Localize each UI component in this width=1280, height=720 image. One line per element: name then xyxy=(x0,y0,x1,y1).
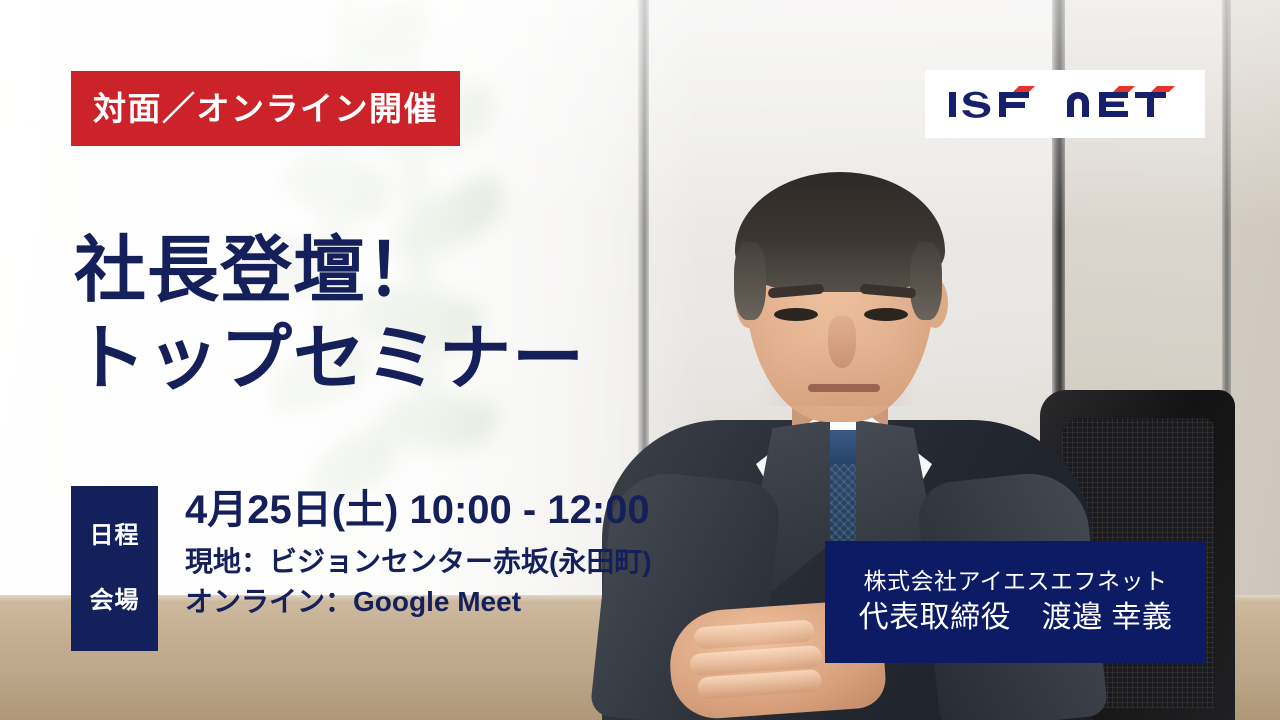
eye-right xyxy=(864,308,908,321)
info-tag-venue: 会場 xyxy=(90,589,140,613)
info-tag-schedule: 日程 xyxy=(90,524,140,548)
seminar-banner: 対面／オンライン開催 社長登壇！ トップセミナー 日程 会場 4月25日(土) … xyxy=(0,0,1280,720)
mouth xyxy=(808,384,880,392)
hair-side-left xyxy=(734,242,766,320)
event-date: 4月25日(土) 10:00 - 12:00 xyxy=(185,488,695,532)
nose xyxy=(828,316,856,368)
eye-left xyxy=(774,308,818,321)
title-line-2: トップセミナー xyxy=(74,316,674,404)
isf-net-logo xyxy=(925,70,1205,138)
speaker-company: 株式会社アイエスエフネット xyxy=(863,567,1167,596)
isf-net-logo-icon xyxy=(947,84,1183,124)
speaker-title-and-name: 代表取締役 渡邉 幸義 xyxy=(859,598,1173,637)
hair-side-right xyxy=(910,242,942,320)
info-tag-box: 日程 会場 xyxy=(71,486,158,651)
page-title: 社長登壇！ トップセミナー xyxy=(74,228,674,404)
event-venue-onsite: 現地：ビジョンセンター赤坂(永田町) xyxy=(185,542,695,582)
event-info: 日程 会場 4月25日(土) 10:00 - 12:00 現地：ビジョンセンター… xyxy=(71,486,691,656)
speaker-nameplate: 株式会社アイエスエフネット 代表取締役 渡邉 幸義 xyxy=(825,541,1206,663)
format-badge: 対面／オンライン開催 xyxy=(71,71,460,146)
logo-accent-t xyxy=(1151,86,1175,92)
logo-accent-f xyxy=(1013,86,1035,92)
event-venue-online: オンライン：Google Meet xyxy=(185,582,695,622)
event-info-body: 4月25日(土) 10:00 - 12:00 現地：ビジョンセンター赤坂(永田町… xyxy=(185,488,695,622)
logo-accent-e xyxy=(1113,86,1135,92)
format-badge-label: 対面／オンライン開催 xyxy=(93,92,438,125)
title-line-1: 社長登壇！ xyxy=(74,228,674,316)
